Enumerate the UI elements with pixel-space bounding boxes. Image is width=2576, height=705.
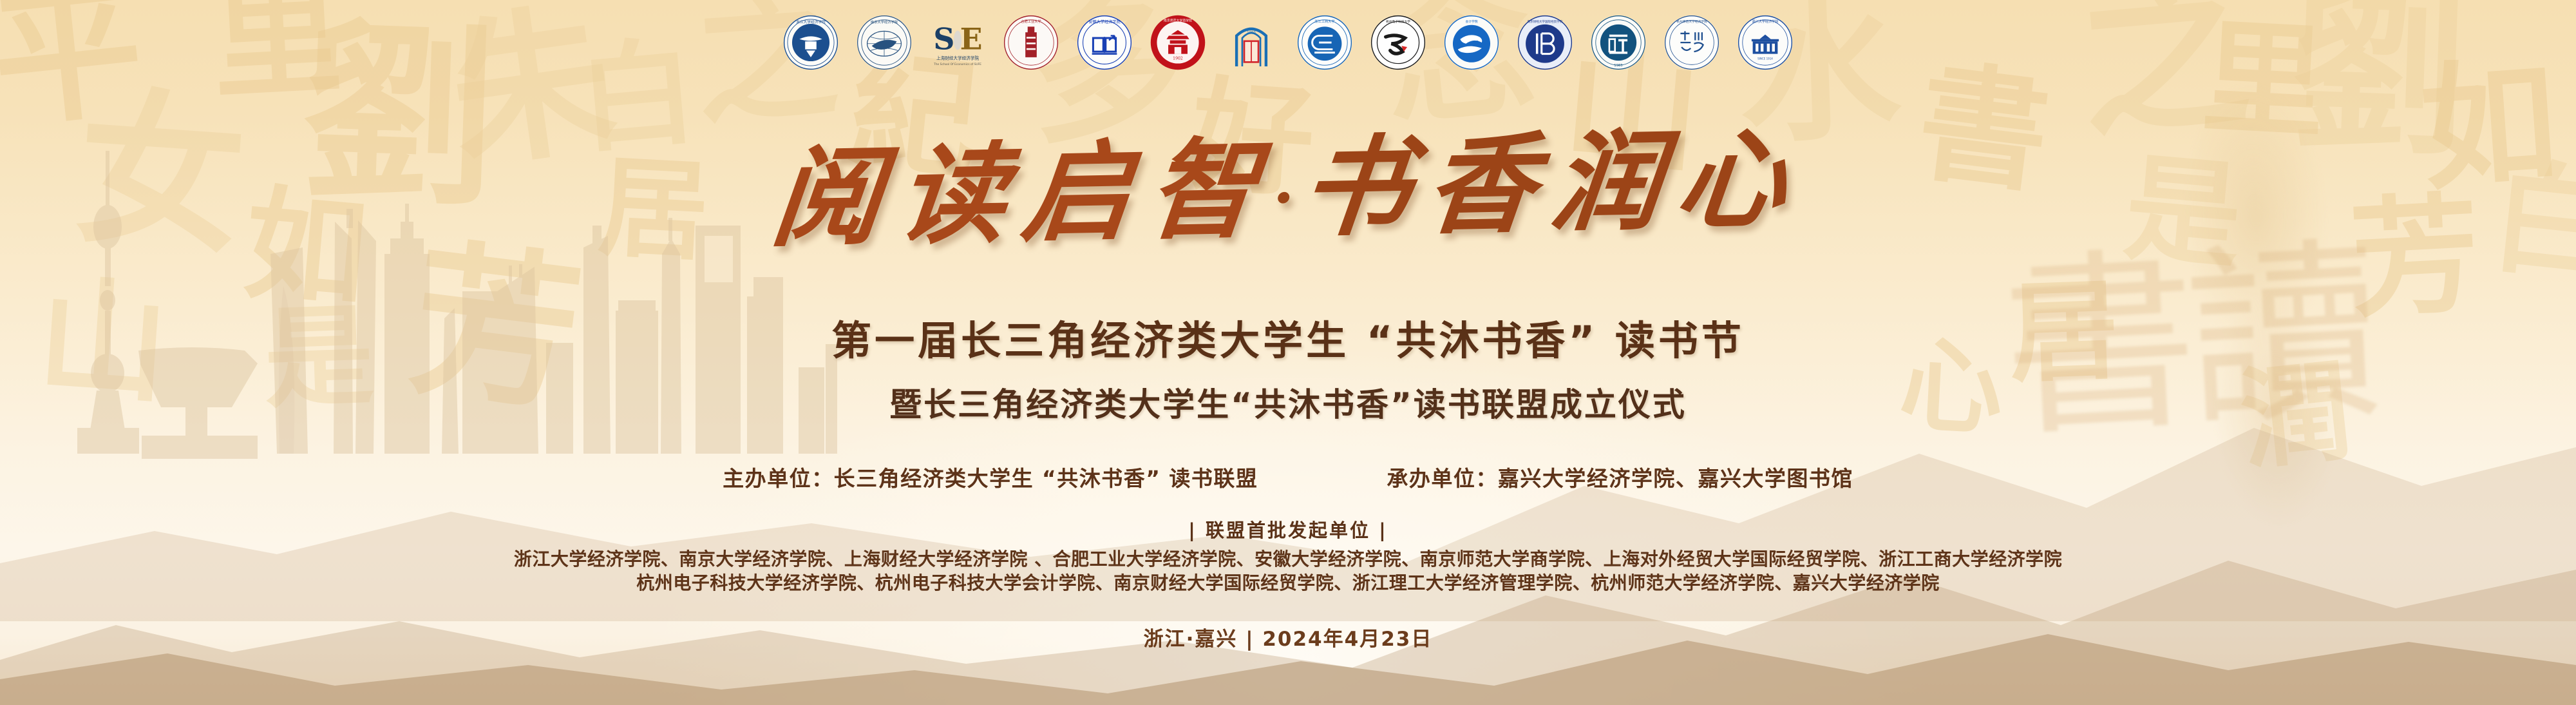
- founding-units-line-1: 浙江大学经济学院、南京大学经济学院、上海财经大学经济学院 、合肥工业大学经济学院…: [0, 548, 2576, 572]
- svg-text:E: E: [960, 22, 983, 57]
- svg-text:SINCE 1914: SINCE 1914: [1757, 57, 1773, 60]
- logo-hdu-school-of-accounting[interactable]: 会计学院: [1443, 14, 1500, 71]
- logo-jiaxing-university-school-of-economics[interactable]: SINCE 1914嘉兴大学经济学院: [1737, 14, 1794, 71]
- founding-units-block: | 联盟首批发起单位 | 浙江大学经济学院、南京大学经济学院、上海财经大学经济学…: [0, 516, 2576, 595]
- event-location-date: 浙江·嘉兴 | 2024年4月23日: [0, 623, 2576, 652]
- svg-text:浙江工商大学: 浙江工商大学: [1314, 19, 1335, 24]
- svg-text:合肥工业大学: 合肥工业大学: [1021, 19, 1041, 24]
- logo-zhejiang-university-school-of-economics[interactable]: 浙江大学经济学院: [782, 14, 839, 71]
- co-organizer-organization: 承办单位：嘉兴大学经济学院、嘉兴大学图书馆: [1387, 461, 1853, 492]
- subtitle-primary: 第一届长三角经济类大学生 “共沐书香” 读书节: [0, 308, 2576, 366]
- svg-text:上海财经大学经济学院: 上海财经大学经济学院: [936, 55, 979, 61]
- partner-logos-row: 浙江大学经济学院 南京大学经济学院 SE上海财经大学经济学院The School…: [0, 14, 2576, 71]
- logo-zstu-school-of-economics-management[interactable]: 1985: [1590, 14, 1647, 71]
- svg-text:1960: 1960: [1247, 31, 1255, 35]
- svg-text:The School Of Economics of SUF: The School Of Economics of SUFE: [933, 63, 981, 66]
- organizers-row: 主办单位：长三角经济类大学生 “共沐书香” 读书联盟 承办单位：嘉兴大学经济学院…: [0, 461, 2576, 492]
- logo-nufe-school-of-international-trade[interactable]: 南京财经大学国际经贸学院: [1517, 14, 1573, 71]
- main-title-block: 阅读启智·书香润心: [0, 134, 2576, 242]
- logo-njnu-business-school[interactable]: 1902南京师范大学商学院: [1150, 14, 1206, 71]
- founding-units-line-2: 杭州电子科技大学经济学院、杭州电子科技大学会计学院、南京财经大学国际经贸学院、浙…: [0, 572, 2576, 595]
- logo-nanjing-university-school-of-economics[interactable]: 南京大学经济学院: [856, 14, 913, 71]
- svg-text:浙江大学经济学院: 浙江大学经济学院: [796, 19, 826, 24]
- svg-text:南京师范大学商学院: 南京师范大学商学院: [1164, 18, 1192, 23]
- svg-text:S: S: [933, 22, 954, 57]
- svg-text:嘉兴大学经济学院: 嘉兴大学经济学院: [1752, 19, 1779, 24]
- svg-text:安徽大学经济学院: 安徽大学经济学院: [1088, 19, 1120, 24]
- subtitle-secondary: 暨长三角经济类大学生“共沐书香”读书联盟成立仪式: [0, 379, 2576, 425]
- logo-zjgsu-school-of-economics[interactable]: 浙江工商大学: [1296, 14, 1353, 71]
- svg-text:1902: 1902: [1173, 56, 1183, 61]
- logo-suibe-school-of-international-trade[interactable]: 1960: [1223, 14, 1280, 71]
- logo-hfut-school-of-economics[interactable]: 合肥工业大学: [1003, 14, 1059, 71]
- logo-shufe-school-of-economics[interactable]: SE上海财经大学经济学院The School Of Economics of S…: [929, 14, 986, 71]
- main-title: 阅读启智·书香润心: [768, 124, 1808, 253]
- event-banner: 平 女 里 劉 朱 如 是 芳 白 居 之 紀 多 好 念 山 水 書 之 里 …: [0, 0, 2576, 705]
- founding-units-heading: | 联盟首批发起单位 |: [0, 516, 2576, 543]
- host-organization: 主办单位：长三角经济类大学生 “共沐书香” 读书联盟: [723, 461, 1258, 492]
- title-part-2: 书香润心: [1295, 115, 1809, 252]
- logo-hznu-school-of-economics[interactable]: 杭州师范大学经济学院: [1663, 14, 1720, 71]
- svg-text:1985: 1985: [1614, 64, 1622, 68]
- svg-text:南京大学经济学院: 南京大学经济学院: [871, 19, 898, 24]
- title-part-1: 阅读启智: [766, 124, 1280, 262]
- logo-hdu-school-of-economics[interactable]: 杭州电子科技大学: [1370, 14, 1426, 71]
- logo-anhui-university-school-of-economics[interactable]: 安徽大学经济学院: [1076, 14, 1133, 71]
